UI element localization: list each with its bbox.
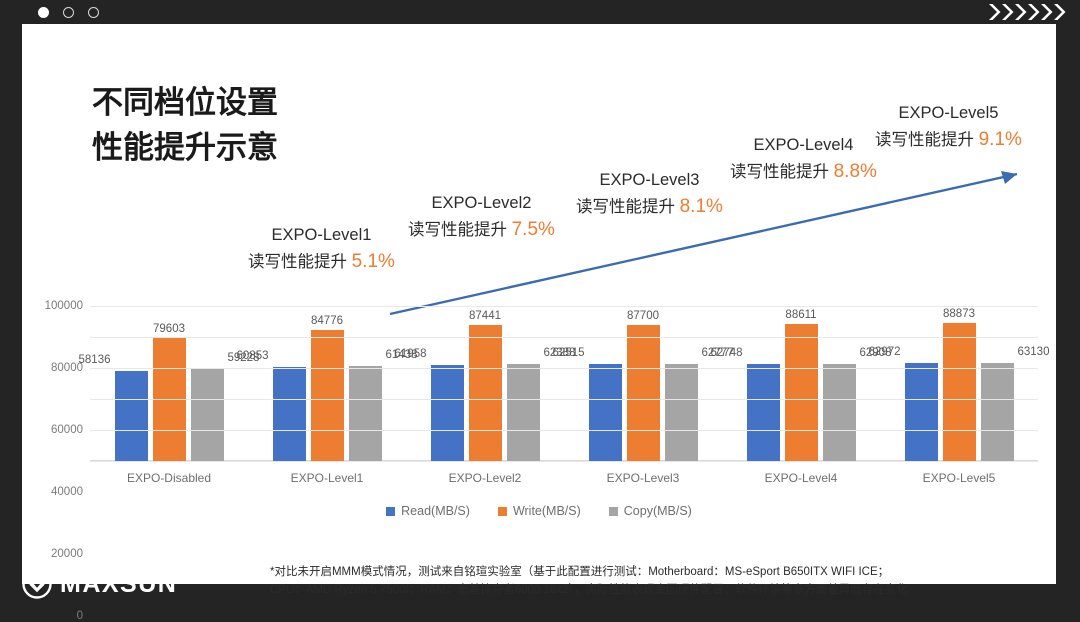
bar-copy[interactable]: 61438 xyxy=(349,366,382,461)
chart-bar-groups: 5813679603592286085384776614386195887441… xyxy=(90,306,1038,461)
legend-label: Read(MB/S) xyxy=(401,504,470,518)
window-dot-2-icon[interactable] xyxy=(63,7,74,18)
annotation-level2-title: EXPO-Level2 xyxy=(408,192,555,216)
bar-group: 629728887363130 xyxy=(880,306,1038,461)
y-axis-tick-label: 20000 xyxy=(51,548,83,560)
chart-gridline: 80000 xyxy=(90,337,1038,338)
annotation-level5-gain: 读写性能提升 9.1% xyxy=(875,126,1022,154)
annotation-level1-title: EXPO-Level1 xyxy=(248,224,395,248)
bar-read[interactable]: 62972 xyxy=(905,363,938,461)
bar-group: 619588744162388 xyxy=(406,306,564,461)
bar-chart: 5813679603592286085384776614386195887441… xyxy=(22,296,1056,526)
x-axis-tick-label: EXPO-Level2 xyxy=(406,471,564,485)
legend-item-read[interactable]: Read(MB/S) xyxy=(386,504,470,518)
bar-group: 625158770062777 xyxy=(564,306,722,461)
bar-value-label: 88611 xyxy=(785,309,816,321)
x-axis-tick-label: EXPO-Level1 xyxy=(248,471,406,485)
slide-page: 不同档位设置 性能提升示意 EXPO-Level1 读写性能提升 5.1% EX… xyxy=(22,24,1056,584)
bar-write[interactable]: 88611 xyxy=(785,324,818,461)
bar-copy[interactable]: 62908 xyxy=(823,364,856,462)
annotation-level3-gain: 读写性能提升 8.1% xyxy=(576,193,723,221)
legend-label: Write(MB/S) xyxy=(513,504,581,518)
bar-write[interactable]: 84776 xyxy=(311,330,344,461)
annotation-level4-gain: 读写性能提升 8.8% xyxy=(730,158,877,186)
annotation-level5-title: EXPO-Level5 xyxy=(875,102,1022,126)
x-axis-tick-label: EXPO-Level3 xyxy=(564,471,722,485)
annotation-level3: EXPO-Level3 读写性能提升 8.1% xyxy=(576,169,723,220)
annotation-level3-pct: 8.1% xyxy=(680,196,723,217)
annotation-level2-gain: 读写性能提升 7.5% xyxy=(408,216,555,244)
y-axis-tick-label: 0 xyxy=(77,610,83,622)
annotation-level3-title: EXPO-Level3 xyxy=(576,169,723,193)
bar-read[interactable]: 60853 xyxy=(273,367,306,461)
page-title: 不同档位设置 性能提升示意 xyxy=(92,81,278,171)
x-axis-tick-label: EXPO-Level4 xyxy=(722,471,880,485)
chart-gridline: 40000 xyxy=(90,399,1038,400)
chevron-right-icon xyxy=(1001,3,1014,21)
bar-value-label: 88873 xyxy=(943,308,975,320)
chevron-right-icon xyxy=(1027,3,1040,21)
y-axis-tick-label: 40000 xyxy=(51,486,83,498)
bar-value-label: 62748 xyxy=(711,347,743,359)
bar-value-label: 61958 xyxy=(395,348,427,360)
brand-name: MAXSUN xyxy=(60,570,177,599)
window-titlebar xyxy=(0,0,1080,24)
slide-frame: 不同档位设置 性能提升示意 EXPO-Level1 读写性能提升 5.1% EX… xyxy=(0,0,1080,608)
y-axis-tick-label: 60000 xyxy=(51,424,83,436)
brand-logo: MAXSUN xyxy=(0,560,250,608)
annotation-level1-pct: 5.1% xyxy=(352,251,395,272)
bar-group: 627488861162908 xyxy=(722,306,880,461)
annotation-level4-title: EXPO-Level4 xyxy=(730,134,877,158)
footnote: *对比未开启MMM模式情况，测试来自铭瑄实验室（基于此配置进行测试：Mother… xyxy=(270,564,1060,600)
bar-group: 608538477661438 xyxy=(248,306,406,461)
bar-read[interactable]: 61958 xyxy=(431,365,464,461)
bar-value-label: 84776 xyxy=(311,315,343,327)
chart-gridline: 60000 xyxy=(90,368,1038,369)
chart-legend: Read(MB/S)Write(MB/S)Copy(MB/S) xyxy=(22,504,1056,518)
bar-copy[interactable]: 59228 xyxy=(191,369,224,461)
bar-value-label: 87700 xyxy=(627,310,659,322)
bar-group: 581367960359228 xyxy=(90,306,248,461)
legend-item-write[interactable]: Write(MB/S) xyxy=(498,504,581,518)
chart-gridline: 0 xyxy=(90,461,1038,462)
x-axis-tick-label: EXPO-Level5 xyxy=(880,471,1038,485)
bar-copy[interactable]: 62388 xyxy=(507,364,540,461)
window-dot-1-icon[interactable] xyxy=(38,7,49,18)
chart-plot-area: 5813679603592286085384776614386195887441… xyxy=(90,306,1038,461)
bar-read[interactable]: 62515 xyxy=(589,364,622,461)
bar-write[interactable]: 88873 xyxy=(943,323,976,461)
bar-write[interactable]: 87700 xyxy=(627,325,660,461)
bar-value-label: 58136 xyxy=(79,354,111,366)
chevron-right-icon xyxy=(1014,3,1027,21)
chart-gridline: 20000 xyxy=(90,430,1038,431)
chart-gridline: 100000 xyxy=(90,306,1038,307)
annotation-level5: EXPO-Level5 读写性能提升 9.1% xyxy=(875,102,1022,153)
bar-value-label: 62972 xyxy=(869,346,901,358)
legend-swatch-icon xyxy=(386,507,395,516)
annotation-level2-pct: 7.5% xyxy=(512,219,555,240)
chevron-right-icon xyxy=(1053,3,1066,21)
chevron-right-icon xyxy=(988,3,1001,21)
annotation-level4-pct: 8.8% xyxy=(834,161,877,182)
bar-value-label: 79603 xyxy=(153,323,185,335)
legend-label: Copy(MB/S) xyxy=(624,504,692,518)
bar-write[interactable]: 87441 xyxy=(469,325,502,461)
annotation-level4: EXPO-Level4 读写性能提升 8.8% xyxy=(730,134,877,185)
legend-swatch-icon xyxy=(609,507,618,516)
maxsun-emblem-icon xyxy=(22,569,52,599)
y-axis-tick-label: 80000 xyxy=(51,362,83,374)
window-dot-3-icon[interactable] xyxy=(88,7,99,18)
chevron-right-icons xyxy=(988,3,1066,21)
y-axis-tick-label: 100000 xyxy=(45,300,83,312)
annotation-level5-pct: 9.1% xyxy=(979,129,1022,150)
window-dots xyxy=(38,7,99,18)
bar-read[interactable]: 62748 xyxy=(747,364,780,461)
chevron-right-icon xyxy=(1040,3,1053,21)
bar-value-label: 62515 xyxy=(553,347,585,359)
bar-value-label: 60853 xyxy=(237,350,269,362)
bar-copy[interactable]: 62777 xyxy=(665,364,698,461)
x-axis-tick-label: EXPO-Disabled xyxy=(90,471,248,485)
bar-value-label: 87441 xyxy=(469,310,501,322)
annotation-level1: EXPO-Level1 读写性能提升 5.1% xyxy=(248,224,395,275)
x-axis-category-labels: EXPO-DisabledEXPO-Level1EXPO-Level2EXPO-… xyxy=(90,471,1038,485)
legend-item-copy[interactable]: Copy(MB/S) xyxy=(609,504,692,518)
annotation-level2: EXPO-Level2 读写性能提升 7.5% xyxy=(408,192,555,243)
bar-read[interactable]: 58136 xyxy=(115,371,148,461)
annotation-level1-gain: 读写性能提升 5.1% xyxy=(248,248,395,276)
legend-swatch-icon xyxy=(498,507,507,516)
bar-value-label: 63130 xyxy=(1018,346,1050,358)
bar-copy[interactable]: 63130 xyxy=(981,363,1014,461)
